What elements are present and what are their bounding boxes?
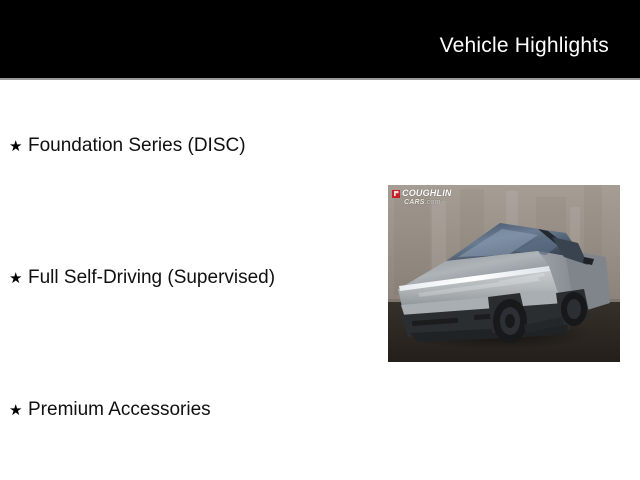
vehicle-photo: COUGHLIN CARS.com <box>388 185 620 362</box>
list-item-label: Full Self-Driving (Supervised) <box>28 268 275 287</box>
page-title: Vehicle Highlights <box>440 20 609 58</box>
slide-vehicle-highlights: Vehicle Highlights ★ Foundation Series (… <box>0 0 640 480</box>
star-bullet-icon: ★ <box>9 139 28 154</box>
star-bullet-icon: ★ <box>9 403 28 418</box>
list-item: ★ Full Self-Driving (Supervised) <box>9 268 275 287</box>
list-item: ★ Foundation Series (DISC) <box>9 136 246 155</box>
list-item-label: Foundation Series (DISC) <box>28 136 246 155</box>
list-item-label: Premium Accessories <box>28 400 211 419</box>
slide-header: Vehicle Highlights <box>0 0 640 78</box>
cybertruck-illustration <box>388 185 620 362</box>
highlights-list: ★ Foundation Series (DISC) ★ Full Self-D… <box>0 78 380 480</box>
star-bullet-icon: ★ <box>9 271 28 286</box>
list-item: ★ Premium Accessories <box>9 400 211 419</box>
